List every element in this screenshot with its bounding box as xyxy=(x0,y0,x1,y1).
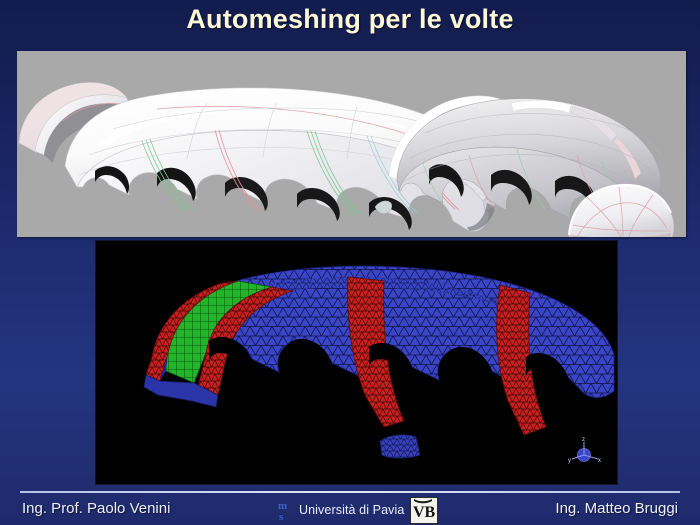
fem-mesh-panel: z y x xyxy=(95,240,618,485)
svg-text:x: x xyxy=(598,458,601,464)
page-title: Automeshing per le volte xyxy=(0,4,700,35)
footer: Ing. Prof. Paolo Venini m s Università d… xyxy=(0,494,700,525)
svg-text:z: z xyxy=(582,437,585,443)
university-label: Università di Pavia xyxy=(299,503,404,517)
ms-logo-icon: m s xyxy=(278,498,293,522)
cad-surface-model-panel xyxy=(17,51,686,237)
cad-surface-model-svg xyxy=(17,51,686,237)
svg-text:s: s xyxy=(279,511,284,522)
svg-text:VB: VB xyxy=(413,504,435,521)
footer-author-right: Ing. Matteo Bruggi xyxy=(555,500,678,517)
vb-logo-icon: VB xyxy=(410,497,438,524)
footer-author-left: Ing. Prof. Paolo Venini xyxy=(22,500,170,517)
footer-divider xyxy=(20,491,680,493)
footer-branding: m s Università di Pavia VB xyxy=(278,496,438,524)
svg-text:y: y xyxy=(568,458,571,464)
slide-canvas: Automeshing per le volte xyxy=(0,0,700,525)
fem-mesh-svg: z y x xyxy=(96,241,617,484)
